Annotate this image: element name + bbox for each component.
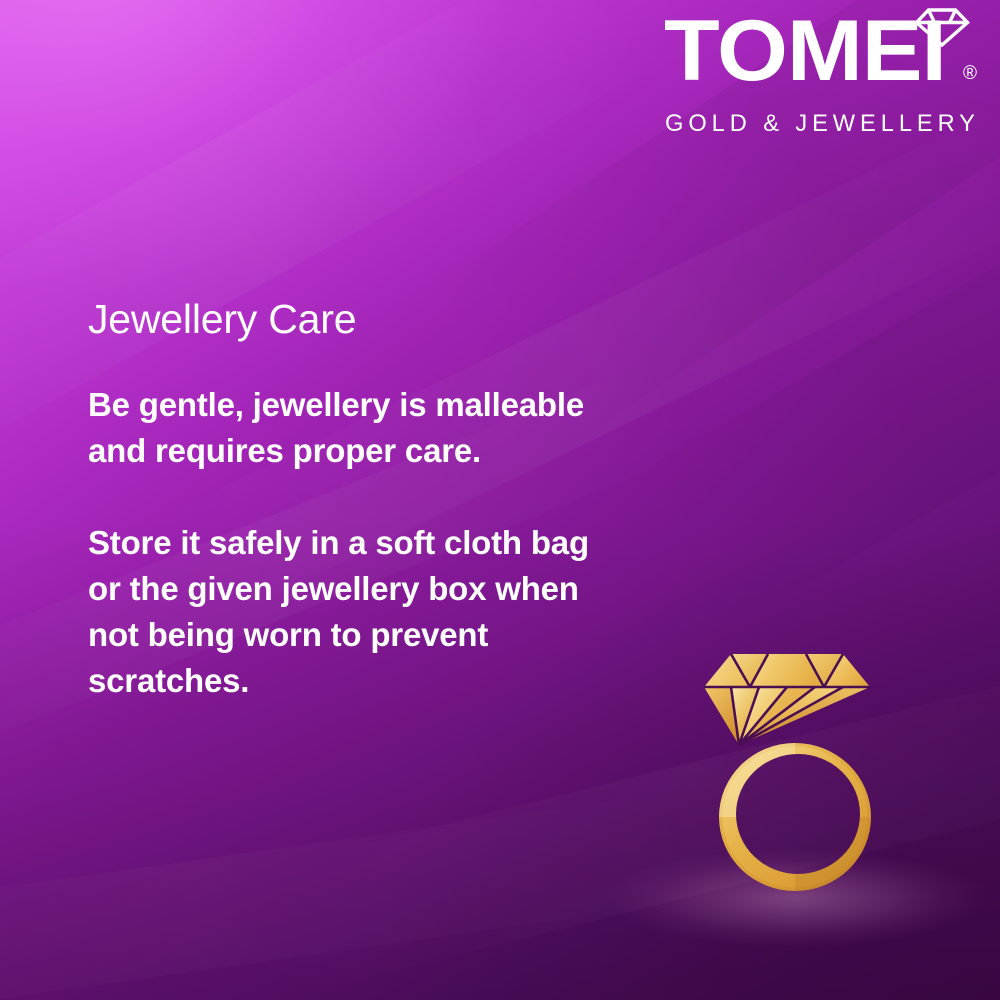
diamond-ring-illustration [690,640,900,900]
ring-band [710,735,885,900]
jewellery-care-card: TOMEI ® GOLD & JEWELLERY Jewellery Care … [0,0,1000,1000]
paragraph-line: Store it safely in a soft cloth bag [88,520,648,566]
page-title: Jewellery Care [88,293,356,345]
diamond-gem [704,654,870,745]
registered-trademark-symbol: ® [963,64,977,83]
paragraph-line: scratches. [88,658,648,704]
brand-logo: TOMEI ® GOLD & JEWELLERY [664,8,984,94]
care-paragraph-1: Be gentle, jewellery is malleable and re… [88,382,648,474]
diamond-ring-graphic [690,640,900,900]
paragraph-line: or the given jewellery box when [88,566,648,612]
brand-wordmark: TOMEI [664,8,946,94]
paragraph-line: Be gentle, jewellery is malleable [88,382,648,428]
diamond-outline-icon [913,6,971,48]
paragraph-line: not being worn to prevent [88,612,648,658]
paragraph-line: and requires proper care. [88,428,648,474]
brand-tagline: GOLD & JEWELLERY [665,112,980,136]
care-paragraph-2: Store it safely in a soft cloth bag or t… [88,520,648,704]
brand-wordmark-row: TOMEI ® [664,8,984,94]
